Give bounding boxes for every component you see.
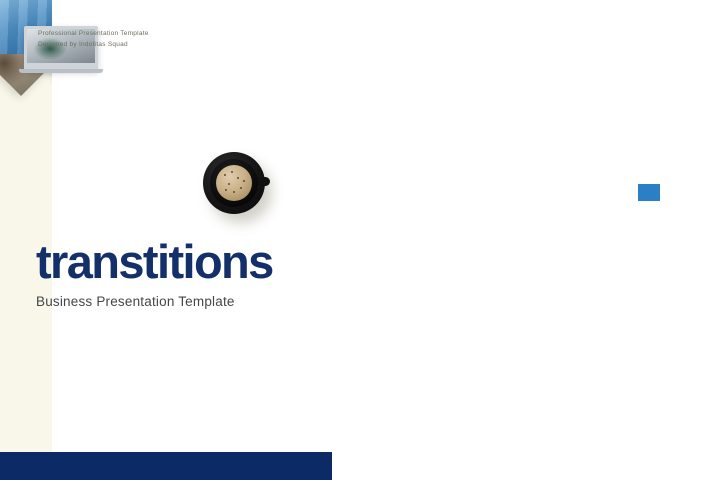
slide-laptop-mockup[interactable]	[0, 100, 104, 180]
brand-title: transtitions	[36, 238, 273, 285]
coffee-cup-icon	[203, 152, 265, 214]
brand-lockup: transtitions Business Presentation Templ…	[36, 238, 273, 309]
poster-canvas: Professional Presentation Template Desig…	[0, 0, 720, 480]
slide-portrait-accent-square	[638, 184, 660, 201]
brand-subtitle: Business Presentation Template	[36, 294, 273, 309]
credits-line-1: Professional Presentation Template	[38, 28, 149, 39]
cup-handle	[257, 177, 270, 186]
credits-block: Professional Presentation Template Desig…	[38, 28, 149, 51]
credits-line-2: Designed by Indotitas Squad	[38, 39, 149, 50]
cup-coffee-surface	[216, 165, 252, 201]
bottom-navy-band	[0, 452, 332, 480]
slide-hero-title: Transtitions	[320, 181, 630, 213]
laptop-base	[19, 69, 103, 73]
slide-hero-subtitle: BUSINESS PRESENTATION	[320, 218, 630, 224]
